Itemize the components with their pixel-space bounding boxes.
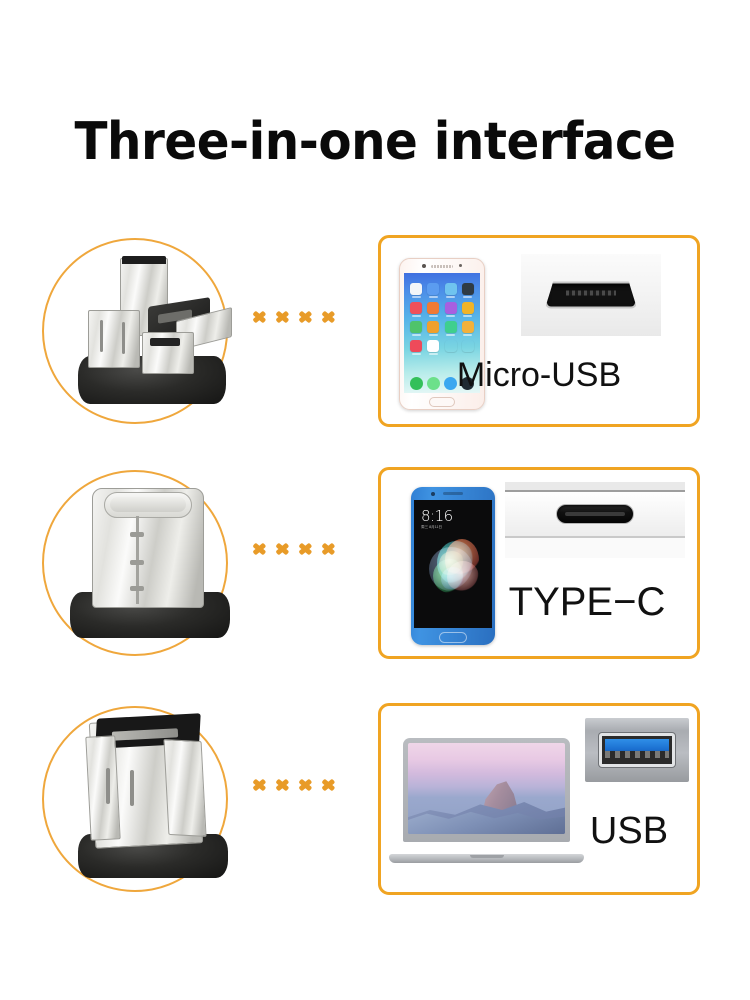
laptop-screen — [408, 743, 565, 834]
app-icon — [409, 321, 423, 336]
app-icon — [461, 340, 475, 355]
app-icon — [426, 302, 440, 317]
app-icon — [444, 302, 458, 317]
app-icon — [444, 340, 458, 355]
micro-usb-connector — [30, 228, 245, 433]
phone-sensor — [459, 264, 462, 267]
chevron-right-icon — [321, 772, 338, 798]
chevron-right-icon — [275, 536, 292, 562]
app-icon — [409, 283, 423, 298]
phone-home-button — [429, 397, 455, 407]
chevron-right-icon — [298, 772, 315, 798]
app-icon — [426, 321, 440, 336]
usb-a-connector — [30, 696, 245, 901]
app-icon — [426, 340, 440, 355]
app-icon — [461, 283, 475, 298]
type-c-port — [556, 504, 634, 524]
port-label-type-c: TYPE−C — [477, 580, 697, 625]
lockscreen-time: 8:16 — [421, 507, 492, 525]
app-icon — [461, 321, 475, 336]
wallpaper-swirl — [423, 537, 483, 597]
page-title: Three-in-one interface — [26, 112, 724, 172]
usb-a-port — [599, 733, 675, 767]
chevron-right-icon — [321, 304, 338, 330]
app-icon — [444, 321, 458, 336]
phone-speaker — [431, 265, 453, 268]
chevron-right-icon — [298, 536, 315, 562]
feature-row-micro-usb: Micro-USB — [0, 232, 750, 432]
usb-port-photo — [585, 718, 689, 782]
chevron-right-icon — [275, 772, 292, 798]
feature-row-type-c: 8:16 周三 8月11日 — [0, 464, 750, 664]
type-c-port-photo — [505, 482, 685, 558]
phone-camera-icon — [431, 492, 435, 496]
app-icon — [409, 302, 423, 317]
target-panel-type-c: 8:16 周三 8月11日 — [378, 467, 700, 659]
feature-row-usb: USB — [0, 700, 750, 900]
phone-speaker — [443, 492, 463, 495]
arrow-chevrons-usb — [252, 772, 338, 798]
laptop-macbook — [389, 738, 584, 863]
arrow-chevrons-micro-usb — [252, 304, 338, 330]
laptop-notch — [470, 855, 504, 858]
phone-camera-icon — [422, 264, 426, 268]
micro-usb-port-photo — [521, 254, 661, 336]
lockscreen-date: 周三 8月11日 — [421, 525, 492, 530]
port-label-micro-usb: Micro-USB — [381, 356, 697, 395]
target-panel-usb: USB — [378, 703, 700, 895]
app-icon — [444, 283, 458, 298]
laptop-lid — [403, 738, 570, 842]
usb-contacts — [605, 751, 669, 758]
chevron-right-icon — [252, 304, 269, 330]
app-grid — [404, 280, 480, 355]
app-icon — [426, 283, 440, 298]
phone-home-button — [439, 632, 467, 643]
laptop-base — [389, 854, 584, 863]
chevron-right-icon — [321, 536, 338, 562]
chevron-right-icon — [275, 304, 292, 330]
app-icon — [409, 340, 423, 355]
micro-usb-port — [545, 282, 637, 309]
port-label-usb: USB — [561, 810, 697, 853]
arrow-chevrons-type-c — [252, 536, 338, 562]
chevron-right-icon — [252, 536, 269, 562]
chevron-right-icon — [252, 772, 269, 798]
target-panel-micro-usb: Micro-USB — [378, 235, 700, 427]
chevron-right-icon — [298, 304, 315, 330]
app-icon — [461, 302, 475, 317]
type-c-connector — [30, 460, 245, 665]
